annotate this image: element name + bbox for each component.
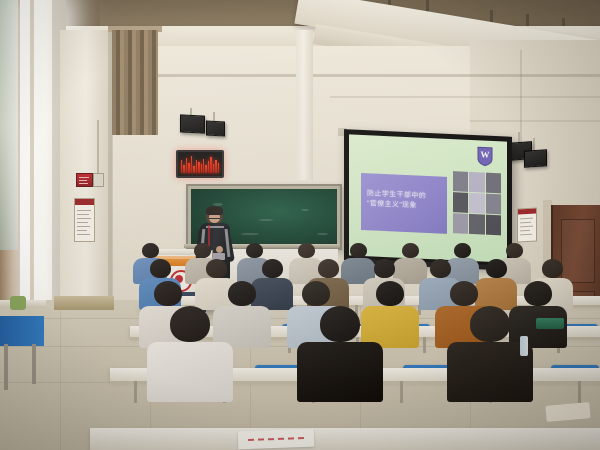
audience-person-head: [246, 243, 263, 258]
audience-person-head: [154, 281, 182, 306]
audience-person-head: [170, 306, 210, 342]
audience-person-head: [430, 259, 451, 278]
water-bottle: [520, 336, 528, 356]
audience-person-head: [194, 243, 211, 258]
audience-person-head: [454, 243, 471, 258]
audience-person-head: [524, 281, 552, 306]
audience-person-head: [318, 259, 339, 278]
desk-leg: [134, 381, 137, 403]
desk-leg: [423, 337, 426, 353]
student-desk-row: [90, 428, 600, 450]
lecture-hall-photo: W 防止学生干部中的 “官僚主义”现象: [0, 0, 600, 450]
audience-seating: [0, 0, 600, 450]
audience-person-head: [376, 281, 404, 306]
pencil-case: [536, 318, 564, 329]
desk-leg: [578, 381, 581, 403]
audience-person-head: [542, 259, 563, 278]
audience-person-head: [262, 259, 283, 278]
audience-person-head: [142, 243, 159, 258]
audience-person-head: [150, 259, 171, 278]
audience-person-head: [470, 306, 510, 342]
audience-person-head: [298, 243, 315, 258]
handout-paper: [238, 429, 315, 450]
audience-person-torso: [147, 342, 233, 402]
desk-leg: [400, 381, 403, 403]
audience-person-head: [402, 243, 419, 258]
audience-person-head: [486, 259, 507, 278]
audience-person-head: [450, 281, 478, 306]
audience-person-torso: [297, 342, 383, 402]
audience-person-head: [506, 243, 523, 258]
audience-person-head: [350, 243, 367, 258]
audience-person-head: [320, 306, 360, 342]
audience-person-head: [228, 281, 256, 306]
audience-person-head: [302, 281, 330, 306]
audience-person-head: [206, 259, 227, 278]
audience-person-head: [374, 259, 395, 278]
